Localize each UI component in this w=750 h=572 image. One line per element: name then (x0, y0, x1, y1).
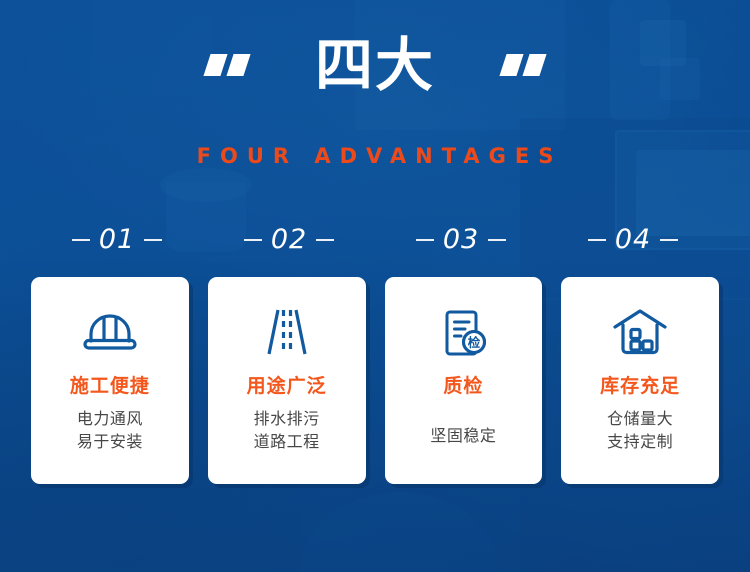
advantage-card-list: 施工便捷 电力通风 易于安装 用途广泛 排水排污 道路工程 (31, 277, 719, 484)
dash-left-icon (72, 239, 90, 241)
card-title: 库存充足 (600, 371, 680, 398)
page-subtitle: FOUR ADVANTAGES (0, 144, 750, 168)
card-description: 仓储量大 支持定制 (607, 407, 673, 453)
advantages-section: 四大 FOUR ADVANTAGES 01 02 03 04 (0, 0, 750, 572)
heading-row: 四大 (0, 36, 750, 94)
number-badge-02: 02 (203, 224, 375, 255)
quote-open-icon (207, 54, 247, 76)
card-description: 坚固稳定 (430, 424, 496, 447)
number-row: 01 02 03 04 (31, 224, 719, 255)
dash-left-icon (588, 239, 606, 241)
number-badge-04: 04 (547, 224, 719, 255)
dash-left-icon (244, 239, 262, 241)
card-description: 电力通风 易于安装 (77, 407, 143, 453)
card-line: 仓储量大 (607, 407, 673, 430)
card-line: 电力通风 (77, 407, 143, 430)
card-title: 施工便捷 (70, 371, 150, 398)
page-title: 四大 (315, 36, 435, 94)
number-label: 04 (615, 224, 651, 255)
card-line: 道路工程 (254, 430, 320, 453)
number-badge-01: 01 (31, 224, 203, 255)
advantage-card-1[interactable]: 施工便捷 电力通风 易于安装 (31, 277, 189, 484)
dash-right-icon (144, 239, 162, 241)
number-label: 02 (271, 224, 307, 255)
dash-right-icon (488, 239, 506, 241)
dash-right-icon (660, 239, 678, 241)
svg-text:检: 检 (468, 335, 481, 350)
inspection-document-icon: 检 (437, 303, 489, 361)
card-title: 用途广泛 (247, 371, 327, 398)
card-line: 排水排污 (254, 407, 320, 430)
number-badge-03: 03 (375, 224, 547, 255)
card-description: 排水排污 道路工程 (254, 407, 320, 453)
advantage-card-4[interactable]: 库存充足 仓储量大 支持定制 (561, 277, 719, 484)
card-line: 易于安装 (77, 430, 143, 453)
card-line: 坚固稳定 (430, 424, 496, 447)
hard-hat-icon (80, 303, 140, 361)
advantage-card-3[interactable]: 检 质检 坚固稳定 (385, 277, 543, 484)
quote-close-icon (503, 54, 543, 76)
road-icon (263, 303, 311, 361)
card-line: 支持定制 (607, 430, 673, 453)
number-label: 03 (443, 224, 479, 255)
dash-right-icon (316, 239, 334, 241)
number-label: 01 (99, 224, 135, 255)
dash-left-icon (416, 239, 434, 241)
advantage-card-2[interactable]: 用途广泛 排水排污 道路工程 (208, 277, 366, 484)
warehouse-house-icon (611, 303, 669, 361)
card-title: 质检 (443, 371, 483, 398)
